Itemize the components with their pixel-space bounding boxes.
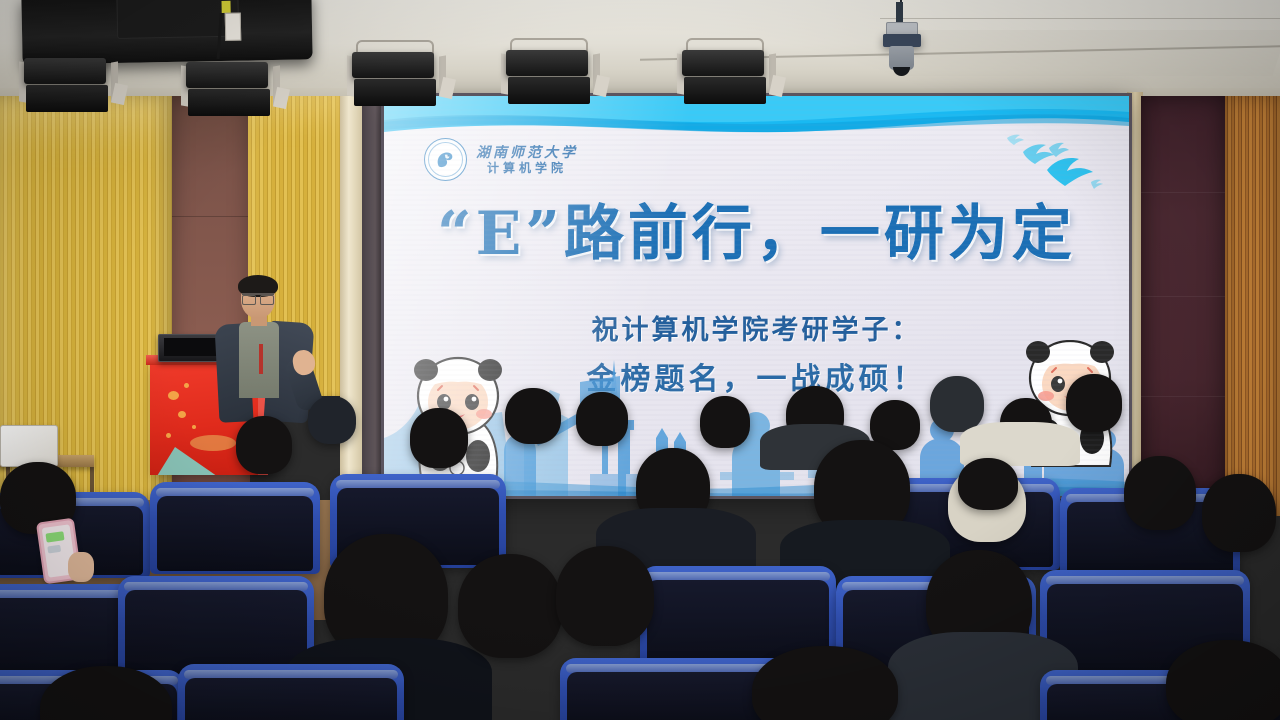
- audience-head: [700, 396, 750, 448]
- audience-area: [0, 370, 1280, 720]
- audience-head: [505, 388, 561, 444]
- swan-emblem-icon: [424, 138, 467, 181]
- eyeglasses-icon: [242, 293, 274, 303]
- audience-head: [236, 416, 292, 474]
- theater-seat-icon[interactable]: [178, 664, 404, 720]
- audience-head: [752, 646, 898, 720]
- audience-head: [576, 392, 628, 446]
- theater-seat-icon[interactable]: [150, 482, 320, 574]
- ceiling-ptz-camera-icon: [880, 2, 924, 76]
- wall-mounted-tv-icon: [21, 0, 312, 65]
- university-logo: 湖南师范大学 计算机学院: [424, 138, 578, 181]
- university-name: 湖南师范大学: [476, 146, 578, 160]
- stage-par-light-icon: [24, 58, 114, 114]
- audience-head: [410, 408, 468, 468]
- stage-par-light-icon: [186, 62, 276, 118]
- slide-title: “E”路前行，一研为定: [384, 204, 1129, 264]
- audience-hand: [68, 552, 94, 582]
- ceiling-seam-secondary: [880, 18, 1280, 19]
- audience-head: [458, 554, 562, 658]
- audience-head: [930, 376, 984, 432]
- stage-par-light-icon: [682, 50, 772, 106]
- audience-head: [1202, 474, 1276, 552]
- lecture-hall-scene: 湖南师范大学 计算机学院 “E”路前行，一研为定 祝计算机学院考研学子： 金榜题…: [0, 0, 1280, 720]
- audience-head: [1066, 374, 1122, 432]
- audience-head: [958, 458, 1018, 510]
- audience-head: [1166, 640, 1280, 720]
- stage-par-light-icon: [506, 50, 596, 106]
- college-name: 计算机学院: [476, 162, 578, 174]
- audience-head: [308, 396, 356, 444]
- audience-head: [1124, 456, 1196, 530]
- stage-par-light-icon: [352, 52, 442, 108]
- audience-head: [556, 546, 654, 646]
- flying-doves-icon: [993, 126, 1103, 192]
